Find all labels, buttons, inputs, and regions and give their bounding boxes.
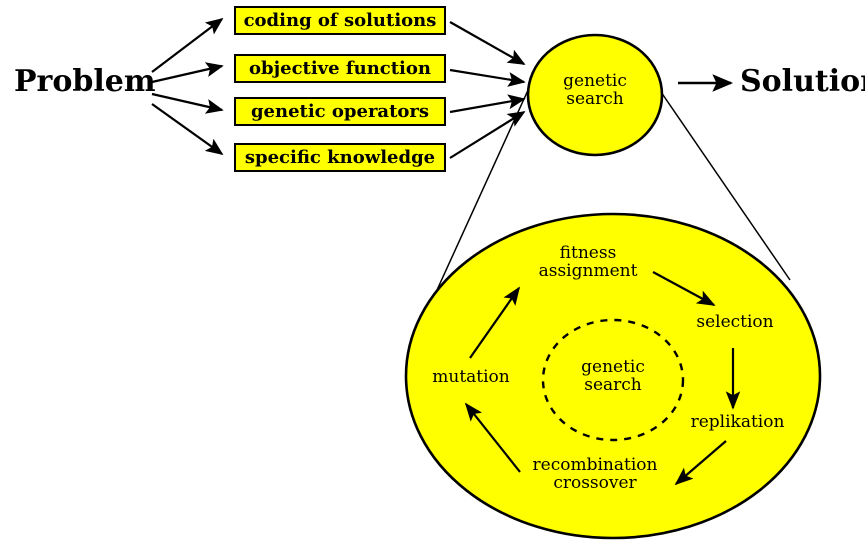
arrow-coding-to-engine (450, 22, 524, 64)
cycle-step-replikation: replikation (685, 413, 790, 431)
diagram-canvas: Problem Solution coding of solutions obj… (0, 0, 865, 553)
ingredient-box-coding-of-solutions[interactable]: coding of solutions (234, 6, 446, 35)
cycle-step-fitness-assignment: fitness assignment (528, 244, 648, 280)
ingredient-box-label: coding of solutions (244, 10, 437, 31)
cycle-step-recombination-crossover: recombination crossover (521, 456, 669, 492)
cycle-step-label-line1: selection (690, 313, 780, 331)
engine-circle-label-line2: search (545, 90, 645, 108)
arrow-problem-to-objective (152, 66, 222, 82)
arrow-objective-to-engine (450, 70, 524, 82)
ingredient-box-label: genetic operators (251, 101, 429, 122)
engine-circle-label-line1: genetic (545, 72, 645, 90)
engine-circle-label: genetic search (545, 72, 645, 108)
arrow-problem-to-coding (152, 19, 222, 72)
cycle-step-label-line2: crossover (521, 474, 669, 492)
page-output-label: Solution (740, 66, 865, 98)
boxes-to-engine-arrows (450, 22, 524, 158)
core-label-line1: genetic (563, 358, 663, 376)
ingredient-box-label: objective function (249, 58, 431, 79)
ingredient-box-objective-function[interactable]: objective function (234, 54, 446, 83)
core-label-line2: search (563, 376, 663, 394)
arrow-knowledge-to-engine (450, 112, 524, 158)
cycle-step-label-line1: replikation (685, 413, 790, 431)
cycle-step-label-line2: assignment (528, 262, 648, 280)
ingredient-box-specific-knowledge[interactable]: specific knowledge (234, 143, 446, 172)
cycle-step-selection: selection (690, 313, 780, 331)
cycle-step-label-line1: recombination (521, 456, 669, 474)
ingredient-box-genetic-operators[interactable]: genetic operators (234, 97, 446, 126)
cycle-step-label-line1: fitness (528, 244, 648, 262)
cycle-step-mutation: mutation (421, 368, 521, 386)
arrow-operators-to-engine (450, 99, 524, 112)
page-input-label: Problem (14, 66, 156, 98)
problem-fanout-arrows (152, 19, 222, 154)
arrow-problem-to-knowledge (152, 104, 222, 154)
arrow-problem-to-operators (152, 94, 222, 110)
ingredient-box-label: specific knowledge (245, 147, 435, 168)
cycle-step-label-line1: mutation (421, 368, 521, 386)
core-label: genetic search (563, 358, 663, 394)
